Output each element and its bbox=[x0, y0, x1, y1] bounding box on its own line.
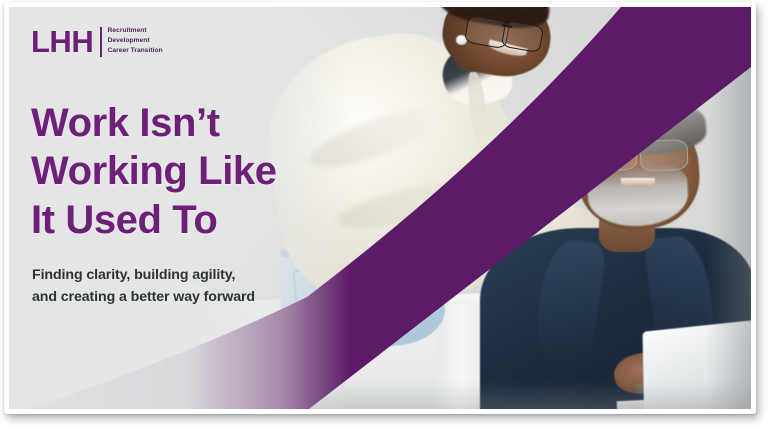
subhead-line-2: and creating a better way forward bbox=[32, 287, 255, 309]
slide-canvas: LHH Recruitment Development Career Trans… bbox=[9, 7, 751, 409]
lhh-wordmark: LHH bbox=[31, 26, 93, 57]
headline-line-3: It Used To bbox=[31, 196, 277, 244]
logo-tagline-line-3: Career Transition bbox=[108, 47, 163, 56]
headline-line-1: Work Isn’t bbox=[31, 99, 277, 147]
subhead-line-1: Finding clarity, building agility, bbox=[32, 265, 255, 287]
logo-tagline-line-2: Development bbox=[108, 37, 163, 46]
lhh-logo[interactable]: LHH Recruitment Development Career Trans… bbox=[31, 26, 163, 57]
slide-card-frame: LHH Recruitment Development Career Trans… bbox=[4, 2, 756, 414]
headline-line-2: Working Like bbox=[31, 147, 277, 195]
page-subtitle: Finding clarity, building agility, and c… bbox=[32, 265, 255, 308]
page-title: Work Isn’t Working Like It Used To bbox=[31, 99, 277, 244]
logo-tagline-line-1: Recruitment bbox=[108, 27, 163, 36]
logo-tagline: Recruitment Development Career Transitio… bbox=[108, 27, 163, 55]
logo-divider-rule bbox=[100, 27, 101, 57]
